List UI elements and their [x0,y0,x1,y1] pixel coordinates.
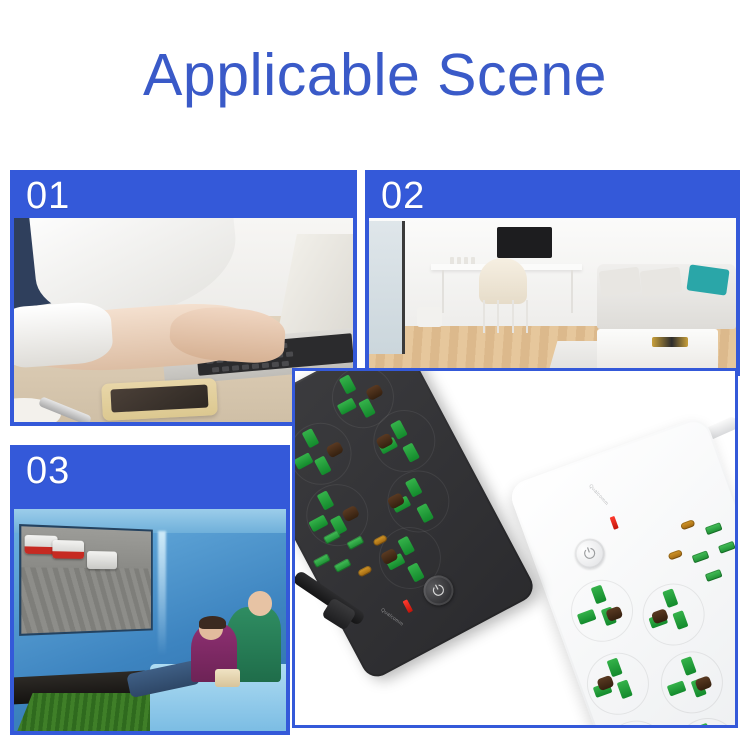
product-panel[interactable]: Qualcomm ⏻ [292,368,738,728]
race-track [21,567,150,634]
popcorn-bowl [215,669,239,687]
sofa-cushion-1 [599,266,642,295]
scene-badge-02: 02 [381,174,425,218]
power-strip-white[interactable]: Qualcomm ⏻ [507,415,738,728]
waste-bin [417,307,443,327]
window [369,221,405,353]
wall-monitor [497,227,552,258]
child-hair [199,616,226,629]
table-decor [652,337,689,348]
shirt-cuff [14,300,114,368]
scene-panel-03[interactable]: 03 [10,445,290,735]
desk-leg-right [571,270,573,313]
coffee-table [597,329,718,372]
power-strip-black[interactable]: Qualcomm ⏻ [292,368,538,682]
desk-leg-left [442,270,444,313]
projection-screen [19,524,152,636]
race-car-2 [52,540,84,558]
corner-light-strip [158,531,166,655]
scene-badge-03: 03 [26,449,70,493]
scene-badge-01: 01 [26,174,70,218]
adult-head [248,591,272,615]
scene-panel-02[interactable]: 02 [365,170,740,376]
poster-canvas: Applicable Scene 01 [0,0,750,750]
smartphone [101,378,218,421]
eames-chair [479,258,527,304]
page-title: Applicable Scene [0,44,750,106]
scene-photo-home-theater-movie-night [14,509,286,731]
chair-legs [483,300,527,334]
race-car-3 [87,551,117,569]
scene-photo-living-room-home-office [369,218,736,372]
sofa-cushion-2 [639,266,682,295]
